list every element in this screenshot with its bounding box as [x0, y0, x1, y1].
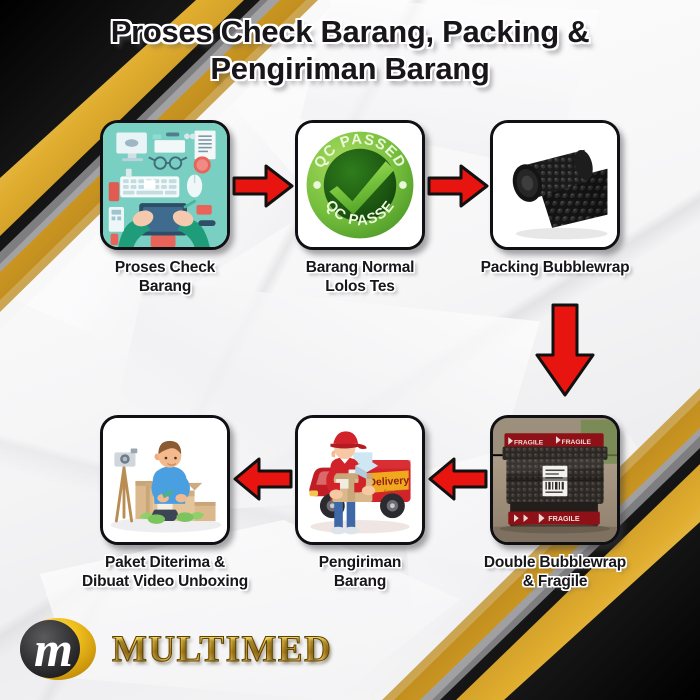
arrow-step5-to-step6 — [233, 455, 293, 508]
step-5-thumbnail[interactable]: Delivery Services — [295, 415, 425, 545]
arrow-step2-to-step3 — [427, 162, 489, 215]
fragile-tape-text-top: FRAGILE — [514, 440, 544, 447]
title-line-1: Proses Check Barang, Packing & — [0, 14, 700, 51]
black-bubblewrap-roll — [493, 123, 617, 247]
delivery-courier-truck: Delivery Services — [298, 418, 422, 542]
step-3-thumbnail[interactable] — [490, 120, 620, 250]
step-6-caption-line-2: Dibuat Video Unboxing — [50, 573, 280, 592]
unboxing-video-illustration — [103, 418, 227, 542]
step-3-caption-line-1: Packing Bubblewrap — [440, 259, 670, 278]
truck-label-main: Delivery — [368, 476, 409, 489]
step-2-thumbnail[interactable]: QC PASSED QC PASSE — [295, 120, 425, 250]
qc-passed-badge: QC PASSED QC PASSE — [298, 123, 422, 247]
process-step-5[interactable]: Delivery Services — [295, 415, 445, 591]
step-5-caption-line-1: Pengiriman — [275, 554, 445, 573]
step-6-caption: Paket Diterima & Dibuat Video Unboxing — [50, 554, 280, 591]
wrapped-parcel-fragile: FRAGILE FRAGILE — [493, 418, 617, 542]
arrow-step3-to-step4 — [533, 303, 597, 403]
step-5-caption-line-2: Barang — [275, 573, 445, 592]
multimed-logo-icon: m — [14, 614, 100, 684]
step-4-thumbnail[interactable]: FRAGILE FRAGILE — [490, 415, 620, 545]
process-step-2[interactable]: QC PASSED QC PASSE Barang Normal Lolos T… — [295, 120, 445, 296]
step-4-caption-line-2: & Fragile — [440, 573, 670, 592]
step-1-caption: Proses Check Barang — [80, 259, 250, 296]
step-6-caption-line-1: Paket Diterima & — [50, 554, 280, 573]
fragile-tape-text-top2: FRAGILE — [562, 439, 592, 446]
step-5-caption: Pengiriman Barang — [275, 554, 445, 591]
step-1-caption-line-1: Proses Check — [80, 259, 250, 278]
arrow-step4-to-step5 — [428, 455, 488, 508]
title-line-2: Pengiriman Barang — [0, 51, 700, 88]
step-2-caption: Barang Normal Lolos Tes — [275, 259, 445, 296]
multimed-wordmark: MULTIMED — [112, 628, 332, 671]
page-title: Proses Check Barang, Packing & Pengirima… — [0, 14, 700, 87]
desk-workspace-illustration — [103, 123, 227, 247]
step-6-thumbnail[interactable] — [100, 415, 230, 545]
process-step-3[interactable]: Packing Bubblewrap — [490, 120, 670, 278]
step-3-caption: Packing Bubblewrap — [440, 259, 670, 278]
footer-brand: m MULTIMED — [14, 614, 332, 684]
multimed-logo-letter: m — [34, 621, 73, 677]
arrow-step1-to-step2 — [232, 162, 294, 215]
step-1-caption-line-2: Barang — [80, 278, 250, 297]
step-2-caption-line-2: Lolos Tes — [275, 278, 445, 297]
step-2-caption-line-1: Barang Normal — [275, 259, 445, 278]
step-1-thumbnail[interactable] — [100, 120, 230, 250]
process-step-1[interactable]: Proses Check Barang — [100, 120, 250, 296]
infographic-canvas: Proses Check Barang, Packing & Pengirima… — [0, 0, 700, 700]
process-step-4[interactable]: FRAGILE FRAGILE — [490, 415, 670, 591]
fragile-tape-text-bottom: FRAGILE — [548, 515, 580, 523]
step-4-caption: Double Bubblewrap & Fragile — [440, 554, 670, 591]
step-4-caption-line-1: Double Bubblewrap — [440, 554, 670, 573]
